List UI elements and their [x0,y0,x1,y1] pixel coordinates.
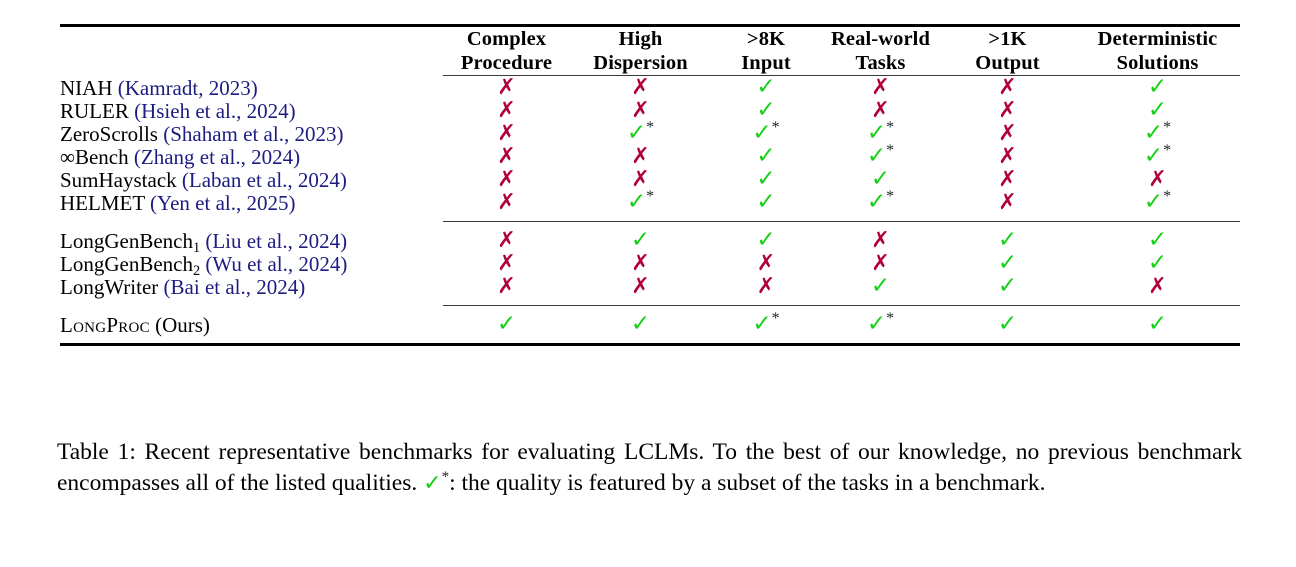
mark-cell-1: ✗ [443,145,570,168]
asterisk-marker: * [886,142,894,159]
mark-cell-2: ✓ [570,229,711,252]
mark-cell-5: ✗ [940,122,1075,145]
mark-cell-2: ✗ [570,99,711,122]
column-header-4: Real-worldTasks [821,27,940,75]
mark-cell-5: ✗ [940,168,1075,191]
mark-cell-6: ✓ [1075,313,1240,336]
column-header-line2: Tasks [821,51,940,75]
cross-icon: ✗ [998,121,1016,146]
benchmark-citation: (Laban et al., 2024) [182,168,347,192]
benchmark-name: LongGenBench [60,229,193,253]
column-header-1: ComplexProcedure [443,27,570,75]
check-icon: ✓ [1144,189,1163,215]
check-icon: ✓ [756,227,775,253]
mark-cell-1: ✗ [443,122,570,145]
mark-cell-2: ✗ [570,76,711,99]
cross-icon: ✗ [757,274,775,299]
mark-cell-5: ✓ [940,313,1075,336]
asterisk-marker: * [886,119,894,136]
cross-icon: ✗ [998,167,1016,192]
check-icon: ✓ [1144,143,1163,169]
cross-icon: ✗ [497,251,515,276]
mark-cell-6: ✓ [1075,252,1240,275]
benchmark-name: SumHaystack [60,168,177,192]
check-icon: ✓ [998,273,1017,299]
mark-cell-6: ✓ [1075,99,1240,122]
asterisk-marker: * [886,188,894,205]
mark-cell-3: ✗ [711,275,821,298]
mark-cell-1: ✗ [443,275,570,298]
benchmark-name-header [60,27,443,75]
column-header-3: >8KInput [711,27,821,75]
benchmark-citation: (Yen et al., 2025) [150,191,295,215]
mark-cell-3: ✓* [711,313,821,336]
caption-text-part2: : the quality is featured by a subset of… [449,470,1045,496]
benchmark-name-cell: SumHaystack (Laban et al., 2024) [60,168,443,191]
table-row: ZeroScrolls (Shaham et al., 2023)✗✓*✓*✓*… [60,122,1240,145]
benchmark-name: LongGenBench [60,252,193,276]
mark-cell-4: ✗ [821,252,940,275]
cross-icon: ✗ [998,98,1016,123]
mark-cell-4: ✗ [821,229,940,252]
benchmark-citation: (Liu et al., 2024) [205,229,347,253]
mark-cell-1: ✗ [443,99,570,122]
mark-cell-6: ✓* [1075,122,1240,145]
mark-cell-4: ✓* [821,313,940,336]
table-row: LongGenBench2 (Wu et al., 2024)✗✗✗✗✓✓ [60,252,1240,275]
table-header-row: ComplexProcedureHighDispersion>8KInputRe… [60,27,1240,75]
mark-cell-1: ✗ [443,252,570,275]
mark-cell-3: ✗ [711,252,821,275]
benchmark-citation: (Shaham et al., 2023) [163,122,343,146]
mark-cell-4: ✓ [821,168,940,191]
mark-cell-4: ✓* [821,145,940,168]
benchmark-name-cell: LongWriter (Bai et al., 2024) [60,275,443,298]
table-row: LongWriter (Bai et al., 2024)✗✗✗✓✓✗ [60,275,1240,298]
check-icon: ✓ [867,189,886,215]
mark-cell-2: ✗ [570,252,711,275]
asterisk-marker: * [772,119,780,136]
table-caption: Table 1: Recent representative benchmark… [57,437,1242,498]
benchmark-citation: (Wu et al., 2024) [205,252,347,276]
check-icon: ✓ [627,120,646,146]
mark-cell-5: ✓ [940,275,1075,298]
check-icon: ✓ [871,273,890,299]
column-header-line1: Complex [443,27,570,51]
mark-cell-1: ✗ [443,76,570,99]
benchmark-name-cell: ∞Bench (Zhang et al., 2024) [60,145,443,168]
mark-cell-3: ✓ [711,145,821,168]
rule-bottom-rule [60,343,1240,346]
mark-cell-4: ✓* [821,122,940,145]
mark-cell-6: ✓ [1075,229,1240,252]
cross-icon: ✗ [497,98,515,123]
mark-cell-1: ✗ [443,168,570,191]
mark-cell-5: ✗ [940,191,1075,214]
mark-cell-3: ✓ [711,229,821,252]
cross-icon: ✗ [497,190,515,215]
check-icon: ✓ [1148,250,1167,276]
row-spacer [60,298,1240,305]
mark-cell-1: ✓ [443,313,570,336]
check-icon: ✓ [631,227,650,253]
asterisk-marker: * [772,310,780,327]
mark-cell-5: ✗ [940,99,1075,122]
column-header-6: DeterministicSolutions [1075,27,1240,75]
column-header-line1: Real-world [821,27,940,51]
cross-icon: ✗ [497,121,515,146]
table-row: LongGenBench1 (Liu et al., 2024)✗✓✓✗✓✓ [60,229,1240,252]
mark-cell-4: ✗ [821,76,940,99]
asterisk-marker: * [442,469,450,485]
benchmark-citation: (Zhang et al., 2024) [134,145,300,169]
mark-cell-6: ✓* [1075,191,1240,214]
benchmark-name-cell: ZeroScrolls (Shaham et al., 2023) [60,122,443,145]
benchmark-name: ∞Bench [60,145,129,169]
benchmark-table-container: ComplexProcedureHighDispersion>8KInputRe… [60,24,1240,346]
check-icon: ✓ [627,189,646,215]
mark-cell-2: ✓ [570,313,711,336]
benchmark-name-cell: LongGenBench2 (Wu et al., 2024) [60,252,443,275]
mark-cell-1: ✗ [443,191,570,214]
cross-icon: ✗ [998,144,1016,169]
cross-icon: ✗ [998,190,1016,215]
check-icon: ✓ [998,311,1017,337]
benchmark-name: LongWriter [60,275,158,299]
asterisk-marker: * [1163,119,1171,136]
mark-cell-5: ✓ [940,252,1075,275]
mark-cell-3: ✓ [711,191,821,214]
asterisk-marker: * [886,310,894,327]
column-header-line1: >8K [711,27,821,51]
mark-cell-4: ✓* [821,191,940,214]
benchmark-name: LongProc [60,313,150,337]
benchmark-citation: (Bai et al., 2024) [164,275,306,299]
benchmark-name-cell: RULER (Hsieh et al., 2024) [60,99,443,122]
asterisk-marker: * [1163,142,1171,159]
cross-icon: ✗ [497,228,515,253]
mark-cell-2: ✗ [570,168,711,191]
cross-icon: ✗ [998,75,1016,100]
mark-cell-6: ✓ [1075,76,1240,99]
mark-cell-3: ✓ [711,168,821,191]
table-row: ∞Bench (Zhang et al., 2024)✗✗✓✓*✗✓* [60,145,1240,168]
column-header-2: HighDispersion [570,27,711,75]
mark-cell-6: ✗ [1075,168,1240,191]
column-header-5: >1KOutput [940,27,1075,75]
mark-cell-1: ✗ [443,229,570,252]
column-header-line2: Procedure [443,51,570,75]
row-spacer [60,336,1240,343]
cross-icon: ✗ [871,228,889,253]
table-row: HELMET (Yen et al., 2025)✗✓*✓✓*✗✓* [60,191,1240,214]
mark-cell-6: ✗ [1075,275,1240,298]
benchmark-name: HELMET [60,191,145,215]
column-header-line2: Input [711,51,821,75]
asterisk-marker: * [1163,188,1171,205]
cross-icon: ✗ [497,144,515,169]
benchmark-name: RULER [60,99,129,123]
check-icon: ✓ [423,471,441,496]
benchmark-name-cell: HELMET (Yen et al., 2025) [60,191,443,214]
benchmark-name-cell: NIAH (Kamradt, 2023) [60,76,443,99]
column-header-line1: Deterministic [1075,27,1240,51]
mark-cell-4: ✗ [821,99,940,122]
cross-icon: ✗ [1148,274,1166,299]
benchmark-name-cell: LongProc (Ours) [60,313,443,336]
cross-icon: ✗ [497,274,515,299]
cross-icon: ✗ [757,251,775,276]
column-header-line1: High [570,27,711,51]
mark-cell-5: ✗ [940,76,1075,99]
cross-icon: ✗ [497,75,515,100]
table-row: NIAH (Kamradt, 2023)✗✗✓✗✗✓ [60,76,1240,99]
check-icon: ✓ [752,311,771,337]
cross-icon: ✗ [631,274,649,299]
mark-cell-6: ✓* [1075,145,1240,168]
check-icon: ✓ [631,311,650,337]
mark-cell-2: ✓* [570,122,711,145]
benchmark-name: ZeroScrolls [60,122,158,146]
mark-cell-5: ✗ [940,145,1075,168]
benchmark-name: NIAH [60,76,113,100]
column-header-line1: >1K [940,27,1075,51]
row-spacer [60,214,1240,221]
benchmark-citation: (Hsieh et al., 2024) [134,99,296,123]
check-icon: ✓ [867,311,886,337]
cross-icon: ✗ [631,251,649,276]
column-header-line2: Output [940,51,1075,75]
paper-table-figure: ComplexProcedureHighDispersion>8KInputRe… [0,0,1296,567]
mark-cell-2: ✓* [570,191,711,214]
benchmark-name-cell: LongGenBench1 (Liu et al., 2024) [60,229,443,252]
mark-cell-4: ✓ [821,275,940,298]
asterisk-marker: * [646,119,654,136]
benchmark-citation: (Ours) [155,313,210,337]
mark-cell-2: ✗ [570,145,711,168]
cross-icon: ✗ [871,75,889,100]
cross-icon: ✗ [631,144,649,169]
asterisk-marker: * [646,188,654,205]
cross-icon: ✗ [497,167,515,192]
mark-cell-3: ✓ [711,76,821,99]
column-header-line2: Solutions [1075,51,1240,75]
table-row: LongProc (Ours)✓✓✓*✓*✓✓ [60,313,1240,336]
benchmark-comparison-table: ComplexProcedureHighDispersion>8KInputRe… [60,24,1240,346]
check-icon: ✓ [1148,311,1167,337]
check-icon: ✓ [497,311,516,337]
mark-cell-2: ✗ [570,275,711,298]
mark-cell-3: ✓ [711,99,821,122]
cross-icon: ✗ [631,75,649,100]
mark-cell-3: ✓* [711,122,821,145]
benchmark-citation: (Kamradt, 2023) [118,76,258,100]
check-icon: ✓ [756,189,775,215]
column-header-line2: Dispersion [570,51,711,75]
mark-cell-5: ✓ [940,229,1075,252]
